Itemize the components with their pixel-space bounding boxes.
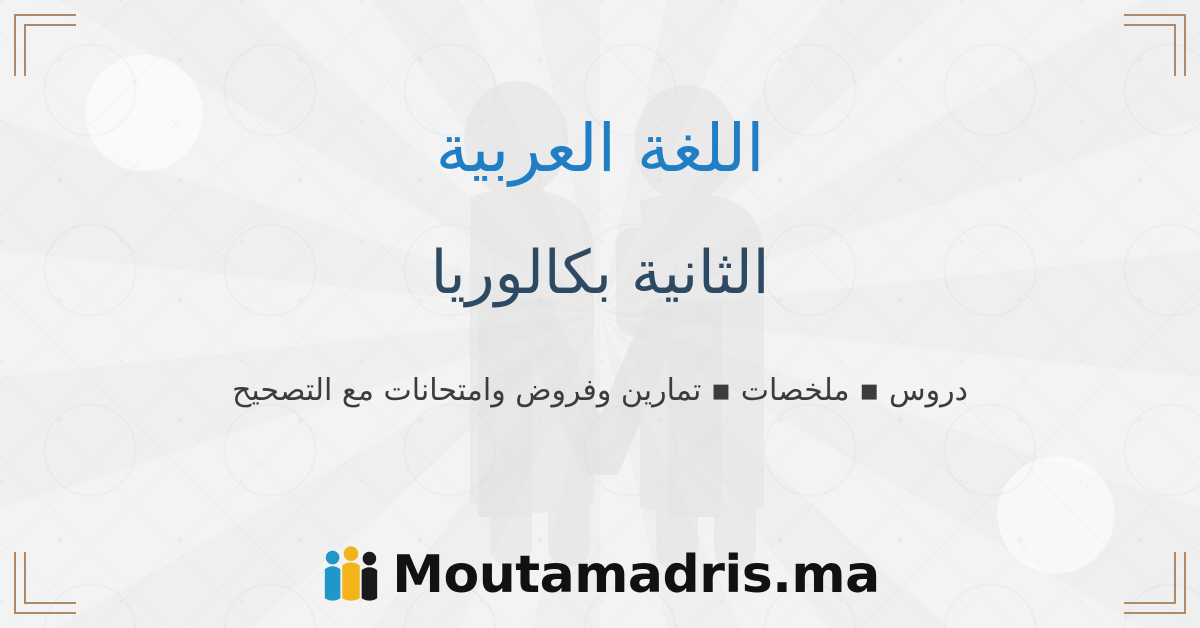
brand-lockup: Moutamadris.ma	[0, 544, 1200, 606]
poster-content: اللغة العربية الثانية بكالوريا دروس ▪ مل…	[0, 0, 1200, 628]
page-subtitle: الثانية بكالوريا	[431, 240, 770, 307]
brand-name: Moutamadris.ma	[392, 545, 879, 605]
page-title: اللغة العربية	[436, 112, 765, 186]
poster-canvas: M اللغة العربية الثانية بكالوريا دروس ▪ …	[0, 0, 1200, 628]
moutamadris-logo-icon	[320, 544, 382, 606]
page-tagline: دروس ▪ ملخصات ▪ تمارين وفروض وامتحانات م…	[232, 373, 968, 408]
